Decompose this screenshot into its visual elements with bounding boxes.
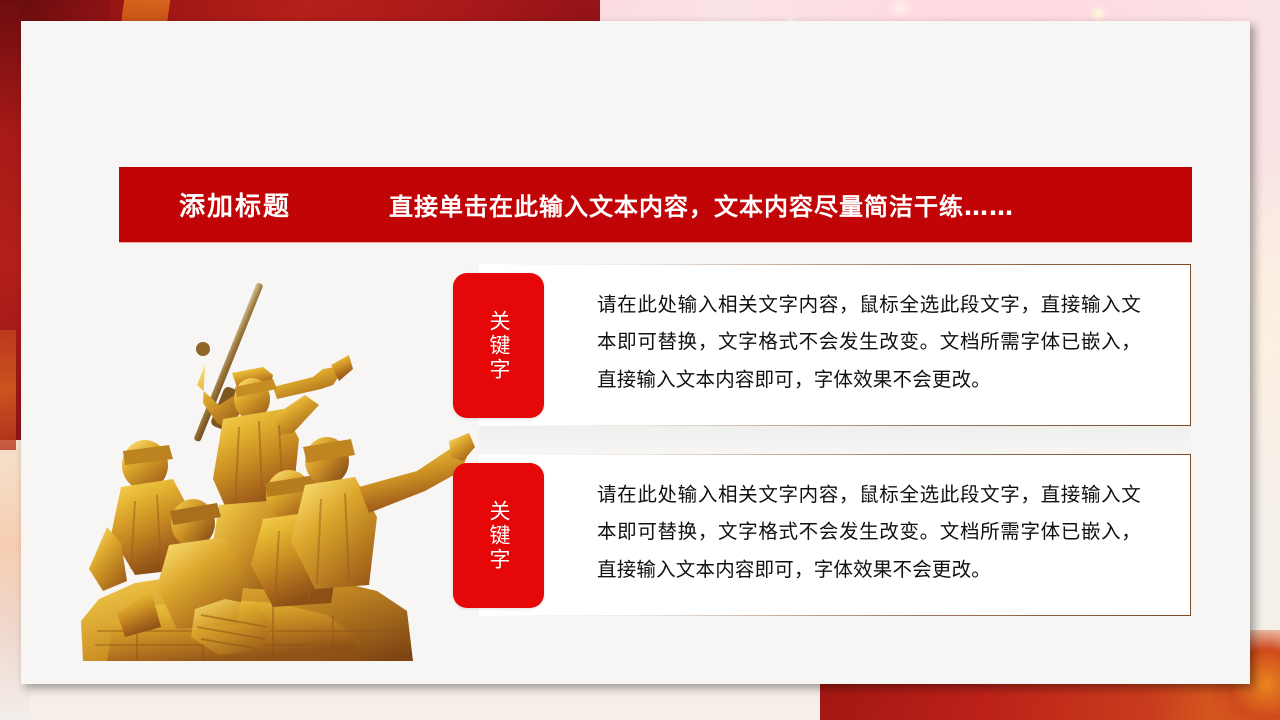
keyword-chip-label: 关键字 [485, 500, 512, 572]
content-body-text: 请在此处输入相关文字内容，鼠标全选此段文字，直接输入文本即可替换，文字格式不会发… [597, 476, 1141, 588]
slide-stage: 添加标题 直接单击在此输入文本内容，文本内容尽量简洁干练…… 关键字 请在此处输… [0, 0, 1280, 720]
keyword-chip[interactable]: 关键字 [453, 273, 544, 418]
content-row: 关键字 请在此处输入相关文字内容，鼠标全选此段文字，直接输入文本即可替换，文字格… [453, 264, 1191, 426]
content-body-text: 请在此处输入相关文字内容，鼠标全选此段文字，直接输入文本即可替换，文字格式不会发… [597, 286, 1141, 398]
keyword-chip-label: 关键字 [485, 310, 512, 382]
keyword-chip[interactable]: 关键字 [453, 463, 544, 608]
title-bar: 添加标题 直接单击在此输入文本内容，文本内容尽量简洁干练…… [119, 167, 1192, 242]
background-orange-left-glow [0, 330, 16, 450]
statue-image [77, 269, 477, 661]
content-row: 关键字 请在此处输入相关文字内容，鼠标全选此段文字，直接输入文本即可替换，文字格… [453, 454, 1191, 616]
slide-panel: 添加标题 直接单击在此输入文本内容，文本内容尽量简洁干练…… 关键字 请在此处输… [21, 21, 1250, 684]
page-subtitle: 直接单击在此输入文本内容，文本内容尽量简洁干练…… [389, 187, 1014, 222]
page-title: 添加标题 [179, 186, 291, 223]
row-divider [479, 426, 1191, 454]
